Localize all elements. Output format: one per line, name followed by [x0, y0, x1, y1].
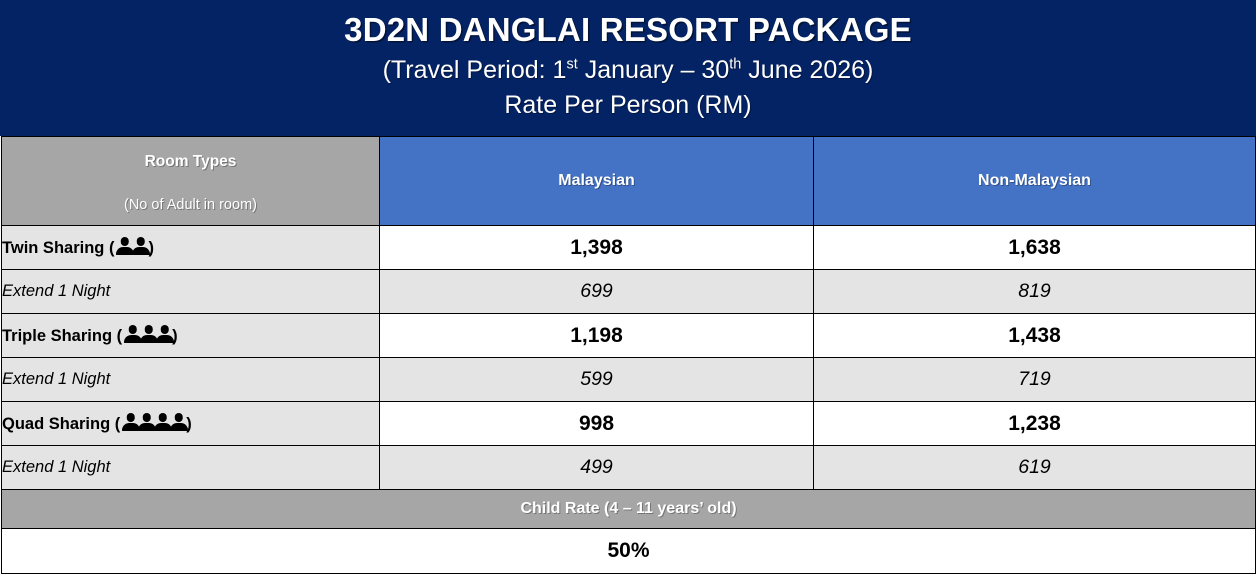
person-icon	[131, 237, 150, 256]
people-icon-2	[115, 237, 147, 256]
travel-period-suffix: June 2026)	[741, 56, 873, 84]
price-non-malaysian-extend-twin: 819	[814, 270, 1256, 314]
price-malaysian-triple: 1,198	[380, 314, 814, 358]
row-label-quad-sharing: Quad Sharing ()	[2, 402, 380, 446]
rate-card-sheet: 3D2N DANGLAI RESORT PACKAGE (Travel Peri…	[0, 0, 1256, 571]
row-label-triple-sharing: Triple Sharing ()	[2, 314, 380, 358]
table-header-row: Room Types (No of Adult in room) Malaysi…	[2, 137, 1256, 226]
people-icon-3	[123, 325, 171, 344]
child-rate-label-row: Child Rate (4 – 11 years’ old)	[2, 490, 1256, 529]
header-malaysian: Malaysian	[380, 137, 814, 226]
child-rate-value-row: 50%	[2, 529, 1256, 574]
price-non-malaysian-twin: 1,638	[814, 226, 1256, 270]
row-label-extend-twin: Extend 1 Night	[2, 270, 380, 314]
row-label-twin-sharing: Twin Sharing ()	[2, 226, 380, 270]
people-icon-4	[121, 413, 185, 432]
price-malaysian-extend-triple: 599	[380, 358, 814, 402]
child-rate-label: Child Rate (4 – 11 years’ old)	[2, 490, 1256, 529]
table-row: Triple Sharing () 1,198 1,438	[2, 314, 1256, 358]
person-icon	[155, 325, 174, 344]
row-label-text: Triple Sharing (	[2, 327, 122, 345]
table-row: Extend 1 Night 599 719	[2, 358, 1256, 402]
travel-period-middle: January – 30	[578, 56, 730, 84]
row-label-extend-triple: Extend 1 Night	[2, 358, 380, 402]
travel-period-prefix: (Travel Period: 1	[383, 56, 567, 84]
price-malaysian-twin: 1,398	[380, 226, 814, 270]
travel-period-superscript-end: th	[729, 57, 741, 73]
rates-table: Room Types (No of Adult in room) Malaysi…	[1, 136, 1256, 574]
price-non-malaysian-extend-quad: 619	[814, 446, 1256, 490]
header-non-malaysian: Non-Malaysian	[814, 137, 1256, 226]
rates-table-head: Room Types (No of Adult in room) Malaysi…	[2, 137, 1256, 226]
price-malaysian-extend-quad: 499	[380, 446, 814, 490]
header-room-types: Room Types (No of Adult in room)	[2, 137, 380, 226]
table-row: Quad Sharing () 998 1,238	[2, 402, 1256, 446]
travel-period-superscript-start: st	[566, 57, 577, 73]
row-label-extend-quad: Extend 1 Night	[2, 446, 380, 490]
rate-per-person-line: Rate Per Person (RM)	[504, 90, 751, 120]
rates-table-body: Twin Sharing () 1,398 1,638 Extend 1 Nig…	[2, 226, 1256, 574]
package-title: 3D2N DANGLAI RESORT PACKAGE	[344, 12, 912, 49]
title-banner: 3D2N DANGLAI RESORT PACKAGE (Travel Peri…	[0, 0, 1256, 136]
row-label-text: Quad Sharing (	[2, 415, 120, 433]
price-malaysian-quad: 998	[380, 402, 814, 446]
table-row: Twin Sharing () 1,398 1,638	[2, 226, 1256, 270]
travel-period-line: (Travel Period: 1st January – 30th June …	[383, 55, 874, 85]
person-icon	[169, 413, 188, 432]
price-non-malaysian-triple: 1,438	[814, 314, 1256, 358]
child-rate-value: 50%	[2, 529, 1256, 574]
price-non-malaysian-extend-triple: 719	[814, 358, 1256, 402]
header-room-types-sublabel: (No of Adult in room)	[2, 197, 379, 213]
price-non-malaysian-quad: 1,238	[814, 402, 1256, 446]
header-room-types-label: Room Types	[2, 153, 379, 171]
table-row: Extend 1 Night 499 619	[2, 446, 1256, 490]
price-malaysian-extend-twin: 699	[380, 270, 814, 314]
table-row: Extend 1 Night 699 819	[2, 270, 1256, 314]
row-label-text: Twin Sharing (	[2, 239, 114, 257]
